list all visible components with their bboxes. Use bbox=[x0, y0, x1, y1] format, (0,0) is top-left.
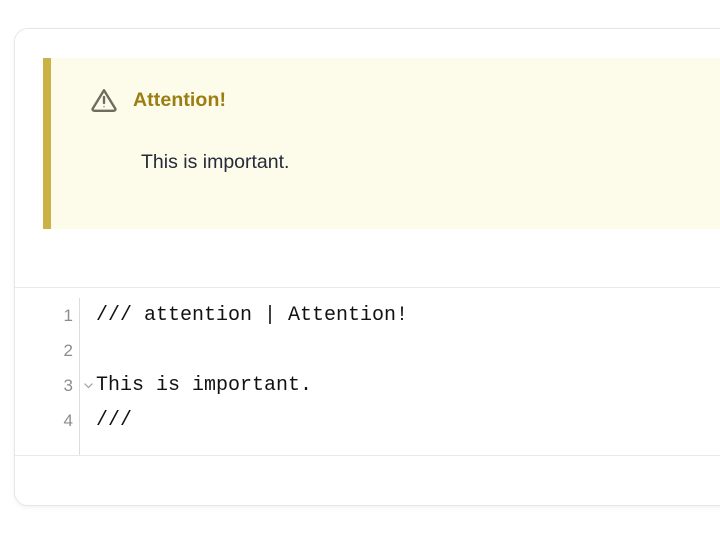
code-line[interactable]: /// attention | Attention! bbox=[96, 298, 720, 333]
rendered-preview-pane: Attention! This is important. bbox=[15, 29, 720, 288]
warning-triangle-icon bbox=[89, 85, 119, 115]
gutter-row: 4 bbox=[15, 403, 79, 438]
code-pane-footer bbox=[15, 456, 720, 505]
admonition-title-row: Attention! bbox=[89, 84, 226, 116]
code-line-container[interactable]: /// attention | Attention! This is impor… bbox=[80, 298, 720, 455]
line-number-gutter: 1 2 3 4 bbox=[15, 298, 80, 455]
attention-admonition: Attention! This is important. bbox=[43, 58, 720, 229]
admonition-title: Attention! bbox=[133, 89, 226, 112]
admonition-body-text: This is important. bbox=[141, 151, 289, 174]
line-number: 1 bbox=[64, 307, 73, 324]
line-number: 2 bbox=[64, 342, 73, 359]
gutter-row: 3 bbox=[15, 368, 79, 403]
line-number: 4 bbox=[64, 412, 73, 429]
code-line[interactable] bbox=[96, 333, 720, 368]
code-editor[interactable]: 1 2 3 4 /// atten bbox=[15, 288, 720, 456]
chevron-down-icon[interactable] bbox=[81, 379, 95, 393]
admonition-preview-card: Attention! This is important. 1 2 3 bbox=[14, 28, 720, 506]
gutter-row: 1 bbox=[15, 298, 79, 333]
gutter-row: 2 bbox=[15, 333, 79, 368]
code-line[interactable]: This is important. bbox=[96, 368, 720, 403]
line-number: 3 bbox=[64, 377, 73, 394]
source-code-pane: 1 2 3 4 /// atten bbox=[15, 288, 720, 505]
code-line[interactable]: /// bbox=[96, 403, 720, 438]
